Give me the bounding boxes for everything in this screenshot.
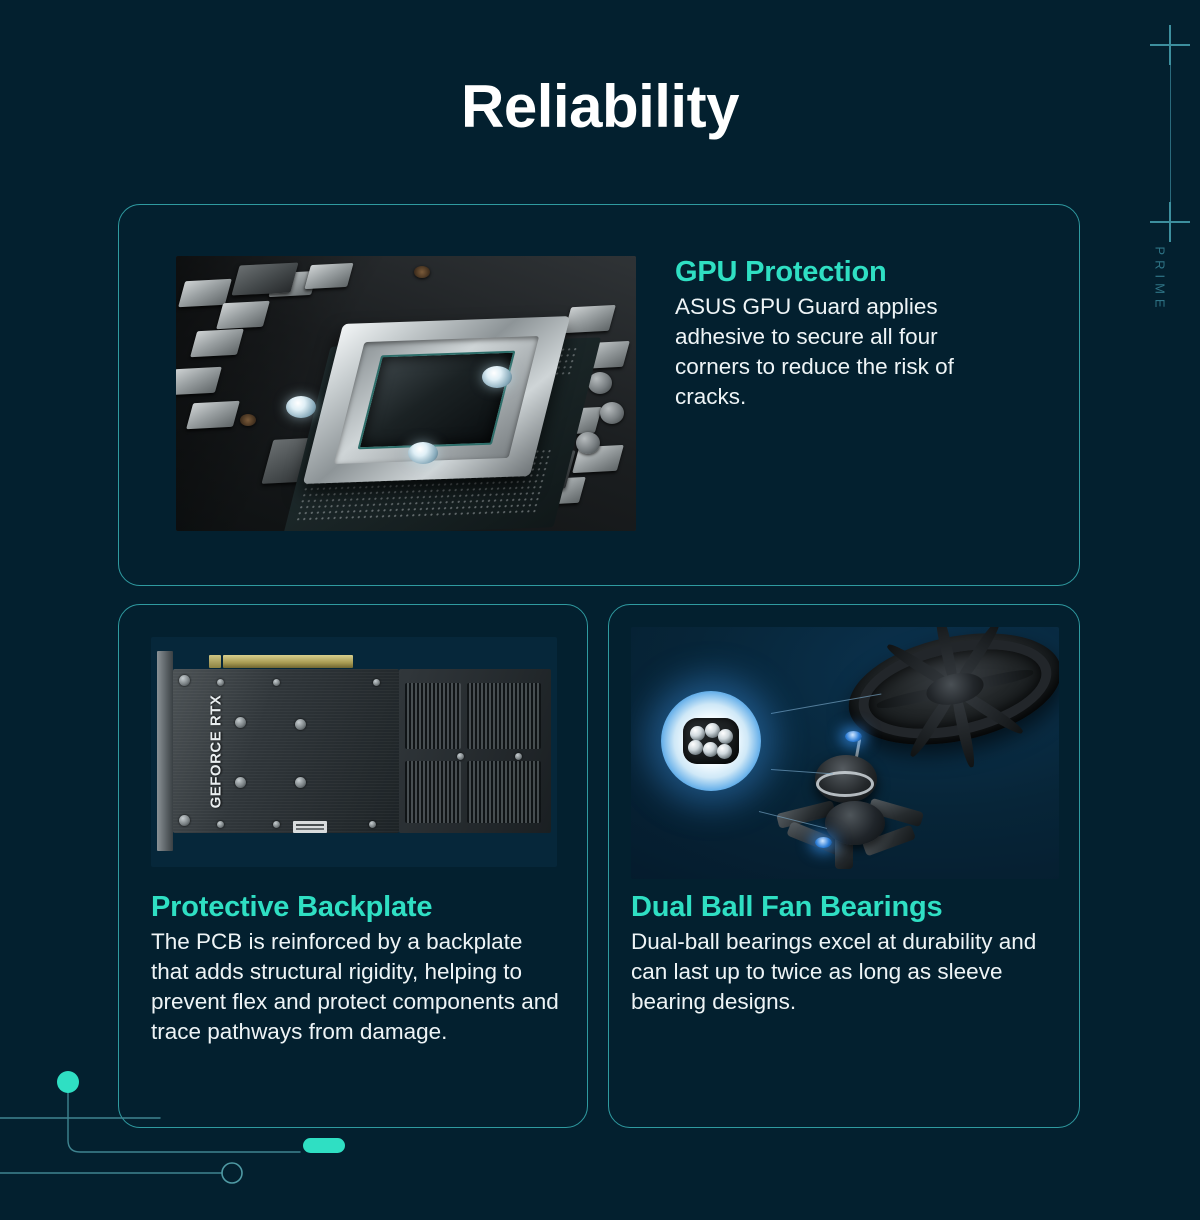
bearing-magnifier [661, 691, 761, 791]
card-gpu-protection: GPU Protection ASUS GPU Guard applies ad… [118, 204, 1080, 586]
right-rail: PRIME [1140, 0, 1200, 1200]
adhesive-dot [286, 396, 316, 418]
backplate-brand-text: GEFORCE RTX [208, 687, 225, 817]
graphics-card-backplate-photo: GEFORCE RTX [151, 637, 557, 867]
circuit-trace-decoration [0, 1000, 420, 1220]
crosshair-icon-top [1150, 25, 1190, 65]
rail-divider-line [1170, 45, 1171, 225]
gpu-die-photo [176, 256, 636, 531]
page-title: Reliability [0, 72, 1200, 141]
card-body-dual-ball-fan-bearings: Dual-ball bearings excel at durability a… [631, 927, 1069, 1016]
adhesive-dot [482, 366, 512, 388]
card-title-protective-backplate: Protective Backplate [151, 891, 563, 923]
card-title-dual-ball-fan-bearings: Dual Ball Fan Bearings [631, 891, 1069, 923]
card-body-gpu-protection: ASUS GPU Guard applies adhesive to secur… [675, 292, 1015, 411]
adhesive-dot [408, 442, 438, 464]
fan-screw-top [845, 731, 862, 742]
trace-node-dot [57, 1071, 79, 1093]
fan-screw-bottom [815, 837, 832, 848]
prime-brand-label: PRIME [1153, 230, 1168, 330]
trace-pill [303, 1138, 345, 1153]
reliability-infographic: Reliability PRIME [0, 0, 1200, 1200]
trace-ring [222, 1163, 242, 1183]
card-dual-ball-fan-bearings: Dual Ball Fan Bearings Dual-ball bearing… [608, 604, 1080, 1128]
fan-bearing-exploded-photo [631, 627, 1059, 879]
card-title-gpu-protection: GPU Protection [675, 256, 1015, 288]
